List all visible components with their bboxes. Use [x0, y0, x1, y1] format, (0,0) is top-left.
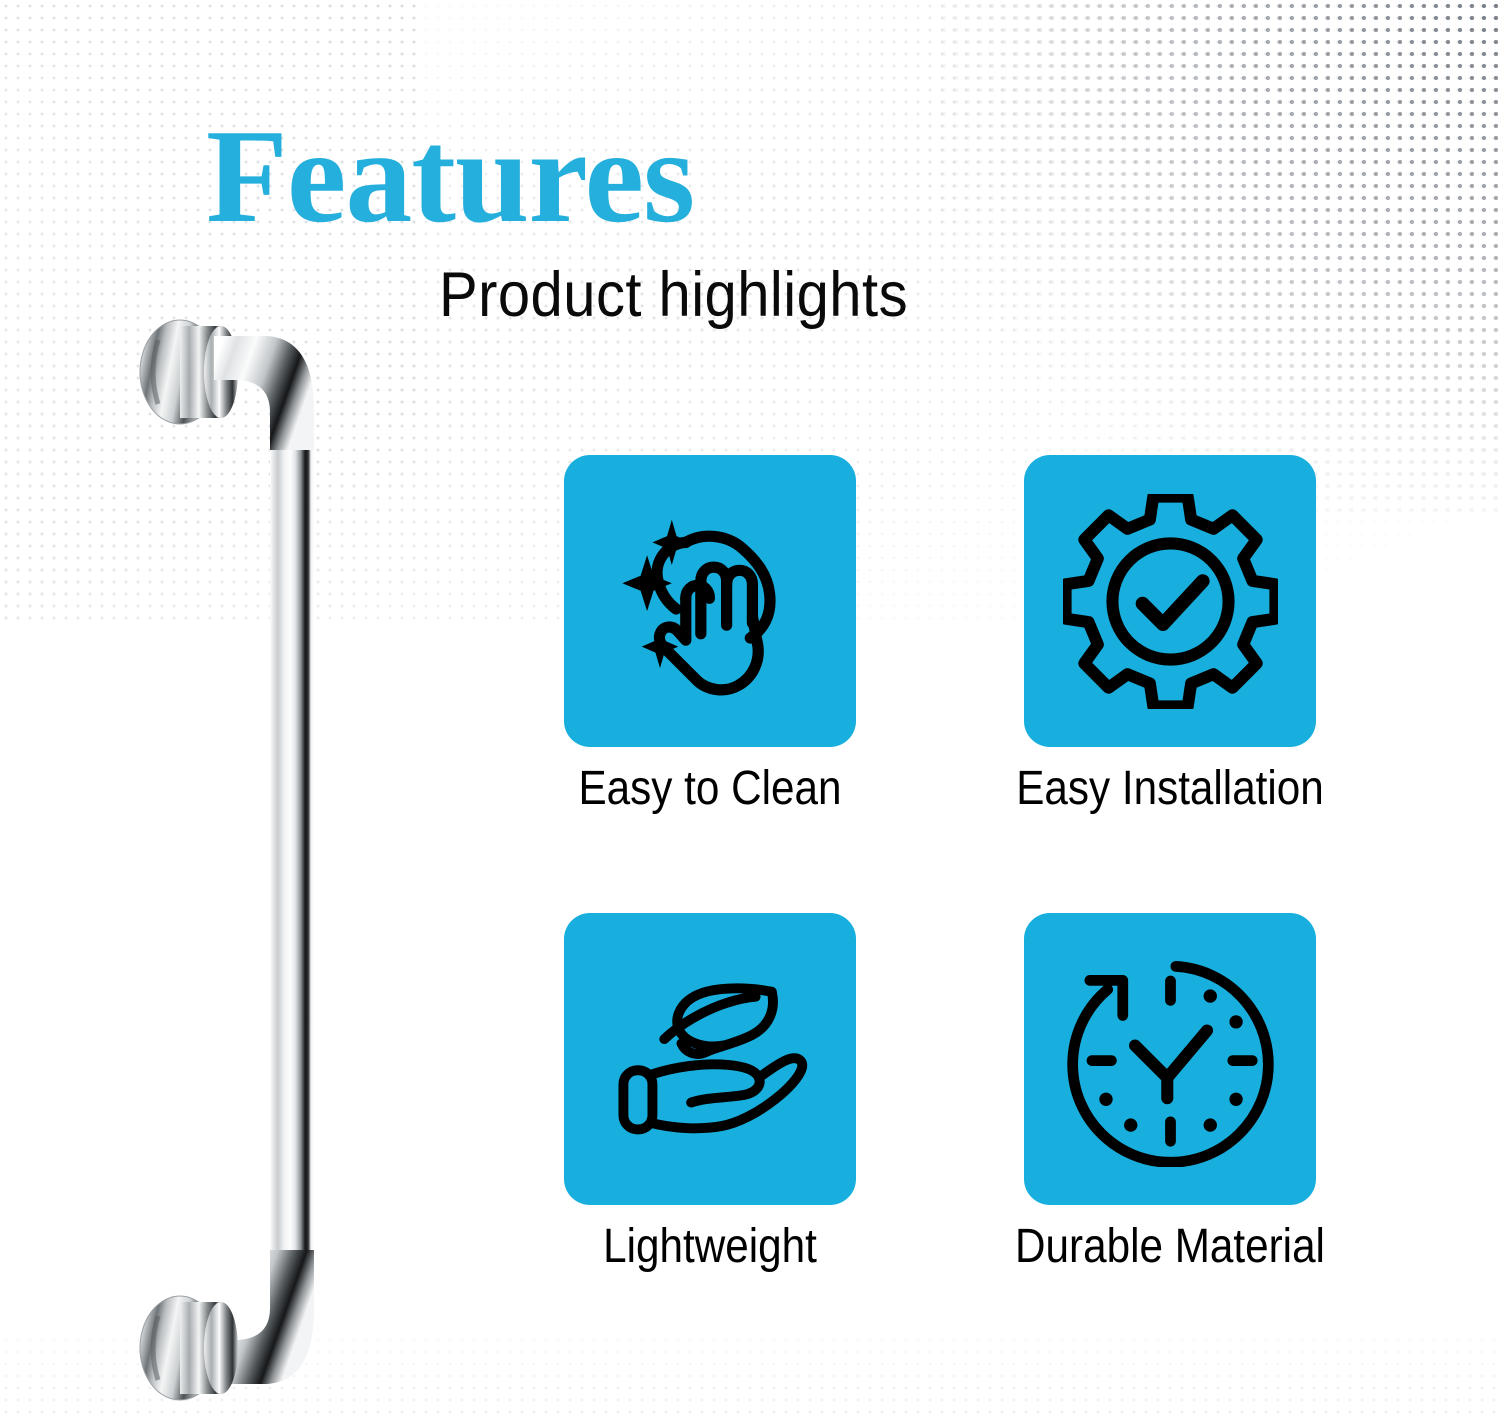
- product-image-grab-bar: [118, 300, 398, 1414]
- clock-arrow-icon: [1063, 952, 1278, 1167]
- feature-item-easy-installation[interactable]: Easy Installation: [955, 455, 1385, 885]
- grab-bar-bottom-flange: [140, 1296, 238, 1400]
- feature-item-lightweight[interactable]: Lightweight: [495, 913, 925, 1343]
- feature-label: Easy to Clean: [521, 763, 899, 816]
- page-subtitle: Product highlights: [243, 262, 1103, 328]
- features-infographic: Features Product highlights: [0, 0, 1498, 1414]
- wipe-clean-icon: [603, 494, 818, 709]
- feature-icon-tile: [564, 455, 856, 747]
- feature-item-easy-to-clean[interactable]: Easy to Clean: [495, 455, 925, 885]
- feature-grid: Easy to Clean Easy Installation: [455, 455, 1375, 1345]
- gear-check-icon: [1063, 494, 1278, 709]
- feature-icon-tile: [1024, 455, 1316, 747]
- feather-in-hand-icon: [603, 952, 818, 1167]
- feature-label: Easy Installation: [981, 763, 1359, 816]
- feature-icon-tile: [1024, 913, 1316, 1205]
- feature-icon-tile: [564, 913, 856, 1205]
- page-title: Features: [206, 108, 966, 245]
- dot-pattern-top-right: [938, 0, 1498, 520]
- feature-item-durable-material[interactable]: Durable Material: [955, 913, 1385, 1343]
- feature-label: Lightweight: [521, 1221, 899, 1274]
- feature-label: Durable Material: [981, 1221, 1359, 1274]
- grab-bar-tube: [270, 450, 314, 1280]
